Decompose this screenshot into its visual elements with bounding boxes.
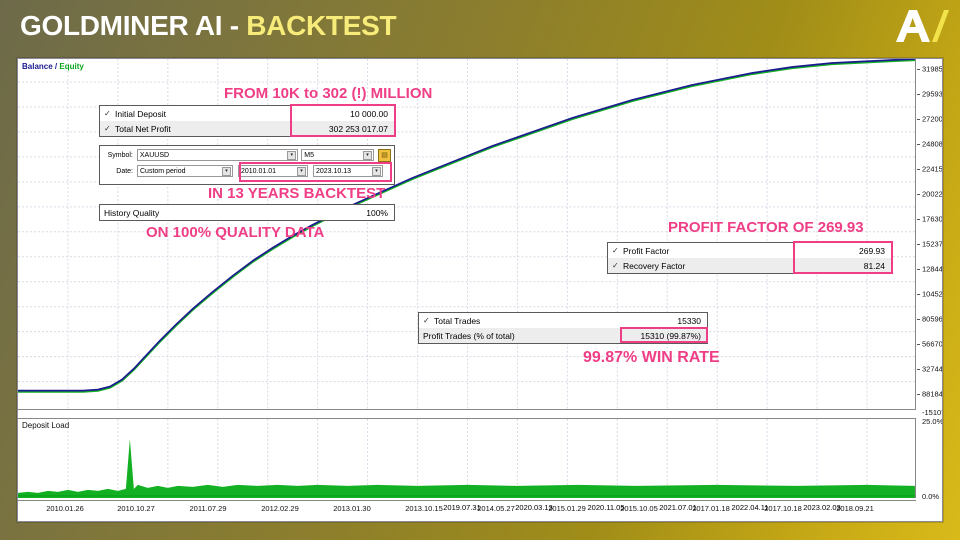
symbol-select[interactable]: XAUUSD ▾: [137, 149, 298, 161]
table-row-recovery-factor: ✓ Recovery Factor 81.24: [608, 258, 891, 273]
y-tick: 29593236: [922, 90, 943, 99]
table-row-history-quality: History Quality 100%: [100, 205, 394, 220]
check-icon: ✓: [612, 246, 623, 255]
y-tick: 27200621: [922, 115, 943, 124]
date-mode-value: Custom period: [140, 168, 186, 175]
chart-legend: Balance / Equity: [22, 62, 84, 71]
x-tick: 2020.03.13: [515, 503, 553, 512]
y-tick: 20022774: [922, 190, 943, 199]
deposit-load-panel: Deposit Load: [18, 418, 916, 498]
history-quality-box: History Quality 100%: [99, 204, 395, 221]
y-tick: 10452312: [922, 290, 943, 299]
check-icon: ✓: [104, 109, 115, 118]
total-net-profit-value: 302 253 017.07: [290, 124, 390, 134]
anno-years: IN 13 YEARS BACKTEST: [208, 185, 385, 202]
check-icon: ✓: [612, 261, 623, 270]
anno-quality: ON 100% QUALITY DATA: [146, 224, 324, 241]
anno-pf: PROFIT FACTOR OF 269.93: [668, 219, 864, 236]
y-tick: 31985852: [922, 65, 943, 74]
date-from-input[interactable]: 2010.01.01 ▾: [238, 165, 308, 177]
page-header: GOLDMINER AI - BACKTEST: [0, 0, 960, 48]
profit-trades-label: Profit Trades (% of total): [423, 331, 617, 341]
x-tick: 2023.02.03: [803, 503, 841, 512]
table-row-total-net-profit: ✓ Total Net Profit 302 253 017.07: [100, 121, 394, 136]
date-caption: Date:: [103, 168, 137, 175]
page-title-primary: GOLDMINER AI -: [20, 10, 246, 41]
legend-separator: /: [55, 62, 57, 71]
deposit-profit-box: ✓ Initial Deposit 10 000.00 ✓ Total Net …: [99, 105, 395, 137]
total-net-profit-label: Total Net Profit: [115, 124, 290, 134]
x-tick: 2022.04.11: [732, 503, 769, 512]
y-tick: 5667080: [922, 340, 943, 349]
table-row-profit-factor: ✓ Profit Factor 269.93: [608, 243, 891, 258]
y-tick: 3274465: [922, 365, 943, 374]
backtest-chart-window: Balance / Equity: [17, 58, 943, 522]
total-trades-value: 15330: [633, 316, 703, 326]
profit-trades-value: 15310 (99.87%): [617, 331, 703, 341]
initial-deposit-value: 10 000.00: [290, 109, 390, 119]
settings-row-symbol: Symbol: XAUUSD ▾ M5 ▾ ▤: [103, 148, 391, 162]
date-to-value: 2023.10.13: [316, 168, 351, 175]
recovery-factor-value: 81.24: [797, 261, 887, 271]
date-from-value: 2010.01.01: [241, 168, 276, 175]
av-logo: [892, 6, 950, 46]
settings-row-date: Date: Custom period ▾ 2010.01.01 ▾ 2023.…: [103, 164, 391, 178]
y-tick: 881849: [922, 390, 943, 399]
grid-icon: ▤: [381, 151, 388, 159]
history-quality-label: History Quality: [104, 208, 330, 218]
y-tick: 15237543: [922, 240, 943, 249]
date-mode-select[interactable]: Custom period ▾: [137, 165, 233, 177]
x-tick: 2020.11.05: [588, 503, 625, 512]
symbol-caption: Symbol:: [103, 152, 137, 159]
profit-factor-label: Profit Factor: [623, 246, 797, 256]
deposit-load-chart: [18, 419, 915, 498]
check-icon: ✓: [423, 316, 434, 325]
x-axis-continued: 2019.07.31 2020.03.13 2020.11.05 2021.07…: [18, 500, 916, 520]
symbol-value: XAUUSD: [140, 152, 169, 159]
y-axis-main: 31985852 29593236 27200621 24808005 2241…: [917, 59, 943, 410]
timeframe-value: M5: [304, 152, 314, 159]
table-row-initial-deposit: ✓ Initial Deposit 10 000.00: [100, 106, 394, 121]
y-axis-deposit-load: -1510766 25.0% 0.0%: [917, 408, 943, 508]
y-tick: 12844927: [922, 265, 943, 274]
recovery-factor-label: Recovery Factor: [623, 261, 797, 271]
properties-button[interactable]: ▤: [378, 149, 391, 162]
legend-equity-label: Equity: [59, 62, 83, 71]
table-row-total-trades: ✓ Total Trades 15330: [419, 313, 707, 328]
legend-balance-label: Balance: [22, 62, 53, 71]
table-row-profit-trades: Profit Trades (% of total) 15310 (99.87%…: [419, 328, 707, 343]
profit-factor-value: 269.93: [797, 246, 887, 256]
chevron-down-icon[interactable]: ▾: [222, 167, 231, 176]
x-tick: 2021.07.01: [659, 503, 697, 512]
chevron-down-icon[interactable]: ▾: [372, 167, 381, 176]
total-trades-label: Total Trades: [434, 316, 633, 326]
history-quality-value: 100%: [330, 208, 390, 218]
deposit-load-label: Deposit Load: [22, 421, 69, 430]
x-tick: 2019.07.31: [443, 503, 481, 512]
y-tick-dl-bottom: 0.0%: [922, 492, 939, 501]
y-tick-negative: -1510766: [922, 408, 943, 417]
page-title: GOLDMINER AI - BACKTEST: [20, 10, 396, 42]
initial-deposit-label: Initial Deposit: [115, 109, 290, 119]
date-to-input[interactable]: 2023.10.13 ▾: [313, 165, 383, 177]
y-tick: 24808005: [922, 140, 943, 149]
y-tick: 17630158: [922, 215, 943, 224]
y-tick-dl-top: 25.0%: [922, 417, 943, 426]
page-title-accent: BACKTEST: [246, 10, 396, 41]
chevron-down-icon[interactable]: ▾: [363, 151, 372, 160]
trades-box: ✓ Total Trades 15330 Profit Trades (% of…: [418, 312, 708, 344]
anno-millions: FROM 10K to 302 (!) MILLION: [224, 85, 432, 102]
y-tick: 22415390: [922, 165, 943, 174]
backtest-settings-panel: Symbol: XAUUSD ▾ M5 ▾ ▤ Date: Custom per…: [99, 145, 395, 185]
profit-factor-box: ✓ Profit Factor 269.93 ✓ Recovery Factor…: [607, 242, 892, 274]
timeframe-select[interactable]: M5 ▾: [301, 149, 374, 161]
chevron-down-icon[interactable]: ▾: [287, 151, 296, 160]
check-icon: ✓: [104, 124, 115, 133]
anno-winrate: 99.87% WIN RATE: [583, 349, 720, 367]
y-tick: 8059696: [922, 315, 943, 324]
chevron-down-icon[interactable]: ▾: [297, 167, 306, 176]
